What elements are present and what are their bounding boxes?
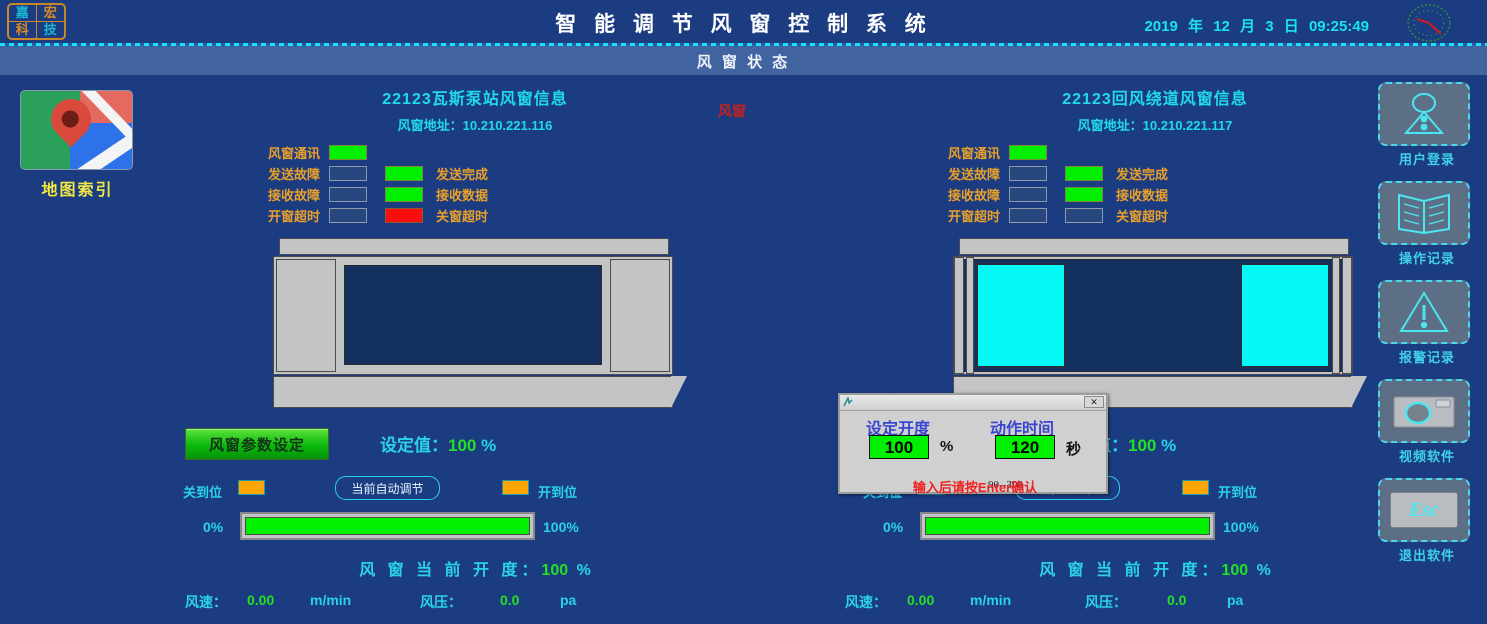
opening-progress-fill: [245, 517, 530, 535]
user-login-icon: [1396, 91, 1452, 137]
right-sidebar: 用户登录 操作记录 报警记录: [1378, 82, 1476, 577]
indicator-label: 接收故障: [250, 185, 320, 204]
sidebar-label: 操作记录: [1378, 248, 1476, 267]
indicator-label: 发送故障: [930, 164, 1000, 183]
panel-gas-pump-station: 22123瓦斯泵站风窗信息 风窗地址：10.210.221.116 风窗通讯 发…: [165, 80, 785, 620]
window-rail-left-2: [966, 257, 974, 374]
action-time-input[interactable]: 120: [995, 435, 1055, 459]
sidebar-item-video-software[interactable]: 视频软件: [1378, 379, 1476, 465]
window-base-wedge: [671, 376, 687, 408]
wind-pressure-unit: pa: [1227, 592, 1243, 608]
bar-min-label: 0%: [883, 519, 903, 535]
operation-record-button[interactable]: [1378, 181, 1470, 245]
led-open-timeout: [1009, 208, 1047, 223]
bar-min-label: 0%: [203, 519, 223, 535]
map-pin-icon[interactable]: [20, 90, 133, 170]
panel-title: 22123瓦斯泵站风窗信息: [165, 85, 785, 109]
analog-clock-icon: [1405, 3, 1453, 43]
led-recv-fault: [329, 187, 367, 202]
auto-mode-indicator[interactable]: 当前自动调节: [335, 476, 440, 500]
led-send-done: [385, 166, 423, 181]
panel-return-air-bypass: 22123回风绕道风窗信息 风窗地址：10.210.221.117 风窗通讯 发…: [845, 80, 1465, 620]
led-close-timeout: [1065, 208, 1103, 223]
status-band: 风 窗 状 态: [0, 46, 1487, 75]
action-time-unit: 秒: [1066, 438, 1081, 459]
sidebar-item-user-login[interactable]: 用户登录: [1378, 82, 1476, 168]
indicator-label: 风窗通讯: [250, 143, 320, 162]
date-month-unit: 月: [1240, 18, 1255, 35]
address-value: 10.210.221.117: [1143, 118, 1233, 133]
open-position-label: 开到位: [1218, 482, 1257, 501]
open-position-led: [502, 480, 529, 495]
current-opening-unit: %: [577, 562, 591, 579]
date-month: 12: [1213, 18, 1230, 35]
window-lintel: [959, 238, 1349, 255]
panel-title: 22123回风绕道风窗信息: [845, 85, 1465, 109]
sidebar-label: 退出软件: [1378, 545, 1476, 564]
led-recv-data: [385, 187, 423, 202]
wind-pressure-value: 0.0: [1167, 592, 1186, 608]
warning-triangle-icon: [1396, 289, 1452, 335]
progress-row: 0% 100%: [165, 512, 785, 546]
wind-readout-row: 风速： 0.00 m/min 风压： 0.0 pa: [165, 592, 785, 616]
sidebar-label: 用户登录: [1378, 149, 1476, 168]
indicator-row-comm: 风窗通讯: [250, 142, 785, 163]
window-side-left: [276, 259, 336, 372]
indicator-label-2: 发送完成: [436, 164, 488, 183]
top-bar: 嘉 宏 科 技 智 能 调 节 风 窗 控 制 系 统 2019 年 12 月 …: [0, 0, 1487, 45]
window-pane-left: [976, 263, 1066, 368]
indicator-label: 风窗通讯: [930, 143, 1000, 162]
address-value: 10.210.221.116: [463, 118, 553, 133]
wind-speed-value: 0.00: [907, 592, 934, 608]
control-row: 风窗参数设定 设定值：100 %: [165, 428, 785, 474]
indicator-row-timeout: 开窗超时 关窗超时: [250, 205, 785, 226]
sidebar-label: 报警记录: [1378, 347, 1476, 366]
open-position-label: 开到位: [538, 482, 577, 501]
sidebar-item-alarm-record[interactable]: 报警记录: [1378, 280, 1476, 366]
window-pane-right: [1240, 263, 1330, 368]
indicator-label: 接收故障: [930, 185, 1000, 204]
led-open-timeout: [329, 208, 367, 223]
indicator-label: 开窗超时: [930, 206, 1000, 225]
map-index-button[interactable]: 地图索引: [20, 90, 135, 200]
user-login-button[interactable]: [1378, 82, 1470, 146]
sidebar-item-operation-record[interactable]: 操作记录: [1378, 181, 1476, 267]
window-lintel: [279, 238, 669, 255]
dialog-system-icon: [843, 397, 854, 408]
alarm-record-button[interactable]: [1378, 280, 1470, 344]
current-opening-unit: %: [1257, 562, 1271, 579]
wind-speed-label: 风速：: [845, 592, 887, 612]
window-base-wedge: [1351, 376, 1367, 408]
sidebar-label: 视频软件: [1378, 446, 1476, 465]
indicator-label: 开窗超时: [250, 206, 320, 225]
wind-readout-row: 风速： 0.00 m/min 风压： 0.0 pa: [845, 592, 1465, 616]
param-setting-button[interactable]: 风窗参数设定: [185, 428, 329, 460]
indicator-label-2: 关窗超时: [1116, 206, 1168, 225]
led-comm: [1009, 145, 1047, 160]
map-index-label: 地图索引: [20, 176, 135, 200]
led-comm: [329, 145, 367, 160]
date-year-unit: 年: [1188, 18, 1203, 35]
indicator-row-recv: 接收故障 接收数据: [250, 184, 785, 205]
datetime-display: 2019 年 12 月 3 日 09:25:49: [1141, 15, 1372, 36]
indicator-label-2: 接收数据: [1116, 185, 1168, 204]
wind-speed-unit: m/min: [970, 592, 1011, 608]
opening-progress-fill: [925, 517, 1210, 535]
progress-row: 0% 100%: [845, 512, 1465, 546]
current-opening-display: 风 窗 当 前 开 度：100 %: [845, 556, 1465, 580]
indicator-row-send: 发送故障 发送完成: [250, 163, 785, 184]
current-opening-label: 风 窗 当 前 开 度：: [1039, 562, 1221, 579]
dialog-enter-hint: 输入后请按Enter确认: [840, 477, 1110, 496]
wind-pressure-unit: pa: [560, 592, 576, 608]
esc-key-icon: Esc: [1390, 492, 1458, 528]
window-frame: [953, 256, 1353, 375]
indicator-label: 发送故障: [250, 164, 320, 183]
set-value-label: 设定值：: [380, 436, 448, 455]
led-recv-data: [1065, 187, 1103, 202]
panel-address: 风窗地址：10.210.221.116: [165, 115, 785, 134]
indicator-block: 风窗通讯 发送故障 发送完成 接收故障 接收数据 开窗超时 关窗超时: [845, 142, 1465, 226]
current-opening-value: 100: [1221, 562, 1248, 579]
close-position-led: [238, 480, 265, 495]
window-rail-right-2: [1332, 257, 1340, 374]
exit-software-button[interactable]: Esc: [1378, 478, 1470, 542]
current-opening-label: 风 窗 当 前 开 度：: [359, 562, 541, 579]
led-send-done: [1065, 166, 1103, 181]
window-base: [273, 376, 673, 408]
address-label: 风窗地址：: [1078, 118, 1143, 133]
current-opening-value: 100: [541, 562, 568, 579]
close-position-label: 关到位: [183, 482, 222, 501]
set-value-unit: %: [1161, 436, 1176, 455]
window-graphic-right: [951, 238, 1359, 410]
set-value-display: 设定值：100 %: [380, 431, 496, 456]
bar-max-label: 100%: [1223, 519, 1259, 535]
date-day-unit: 日: [1284, 18, 1299, 35]
window-side-right: [610, 259, 670, 372]
set-value-unit: %: [481, 436, 496, 455]
opening-setpoint-unit: %: [940, 438, 953, 455]
window-frame: [273, 256, 673, 375]
opening-progress-bar[interactable]: [920, 512, 1215, 540]
parameter-setting-dialog[interactable]: ✕ 设定开度 动作时间 100 % 120 秒 90--300 输入后请按Ent…: [838, 393, 1108, 494]
indicator-label-2: 发送完成: [1116, 164, 1168, 183]
dialog-input-row: 100 % 120 秒: [840, 435, 1106, 465]
wind-speed-value: 0.00: [247, 592, 274, 608]
position-row: 关到位 当前自动调节 开到位: [165, 478, 785, 506]
wind-pressure-label: 风压：: [1085, 592, 1127, 612]
dialog-titlebar[interactable]: ✕: [840, 395, 1106, 411]
wind-speed-unit: m/min: [310, 592, 351, 608]
window-graphic-left: [271, 238, 679, 410]
wind-pressure-label: 风压：: [420, 592, 462, 612]
book-record-icon: [1395, 191, 1453, 235]
opening-setpoint-input[interactable]: 100: [869, 435, 929, 459]
wind-speed-label: 风速：: [185, 592, 227, 612]
open-position-led: [1182, 480, 1209, 495]
set-value-number: 100: [448, 436, 476, 455]
set-value-number: 100: [1128, 436, 1156, 455]
opening-progress-bar[interactable]: [240, 512, 535, 540]
indicator-block: 风窗通讯 发送故障 发送完成 接收故障 接收数据 开窗超时 关窗超时: [165, 142, 785, 226]
led-recv-fault: [1009, 187, 1047, 202]
dialog-label-row: 设定开度 动作时间: [840, 411, 1106, 435]
window-opening: [344, 265, 602, 365]
led-close-timeout: [385, 208, 423, 223]
wind-pressure-value: 0.0: [500, 592, 519, 608]
indicator-label-2: 关窗超时: [436, 206, 488, 225]
window-rail-right: [1342, 257, 1352, 374]
status-band-label: 风 窗 状 态: [0, 51, 1487, 72]
address-label: 风窗地址：: [398, 118, 463, 133]
indicator-label-2: 接收数据: [436, 185, 488, 204]
video-software-button[interactable]: [1378, 379, 1470, 443]
camera-icon: [1391, 391, 1457, 431]
sidebar-item-exit-software[interactable]: Esc 退出软件: [1378, 478, 1476, 564]
led-send-fault: [1009, 166, 1047, 181]
dialog-close-button[interactable]: ✕: [1084, 396, 1104, 408]
bar-max-label: 100%: [543, 519, 579, 535]
led-send-fault: [329, 166, 367, 181]
date-year: 2019: [1144, 18, 1177, 35]
window-rail-left: [954, 257, 964, 374]
current-opening-display: 风 窗 当 前 开 度：100 %: [165, 556, 785, 580]
clock-time: 09:25:49: [1309, 18, 1369, 35]
panel-address: 风窗地址：10.210.221.117: [845, 115, 1465, 134]
date-day: 3: [1265, 18, 1273, 35]
